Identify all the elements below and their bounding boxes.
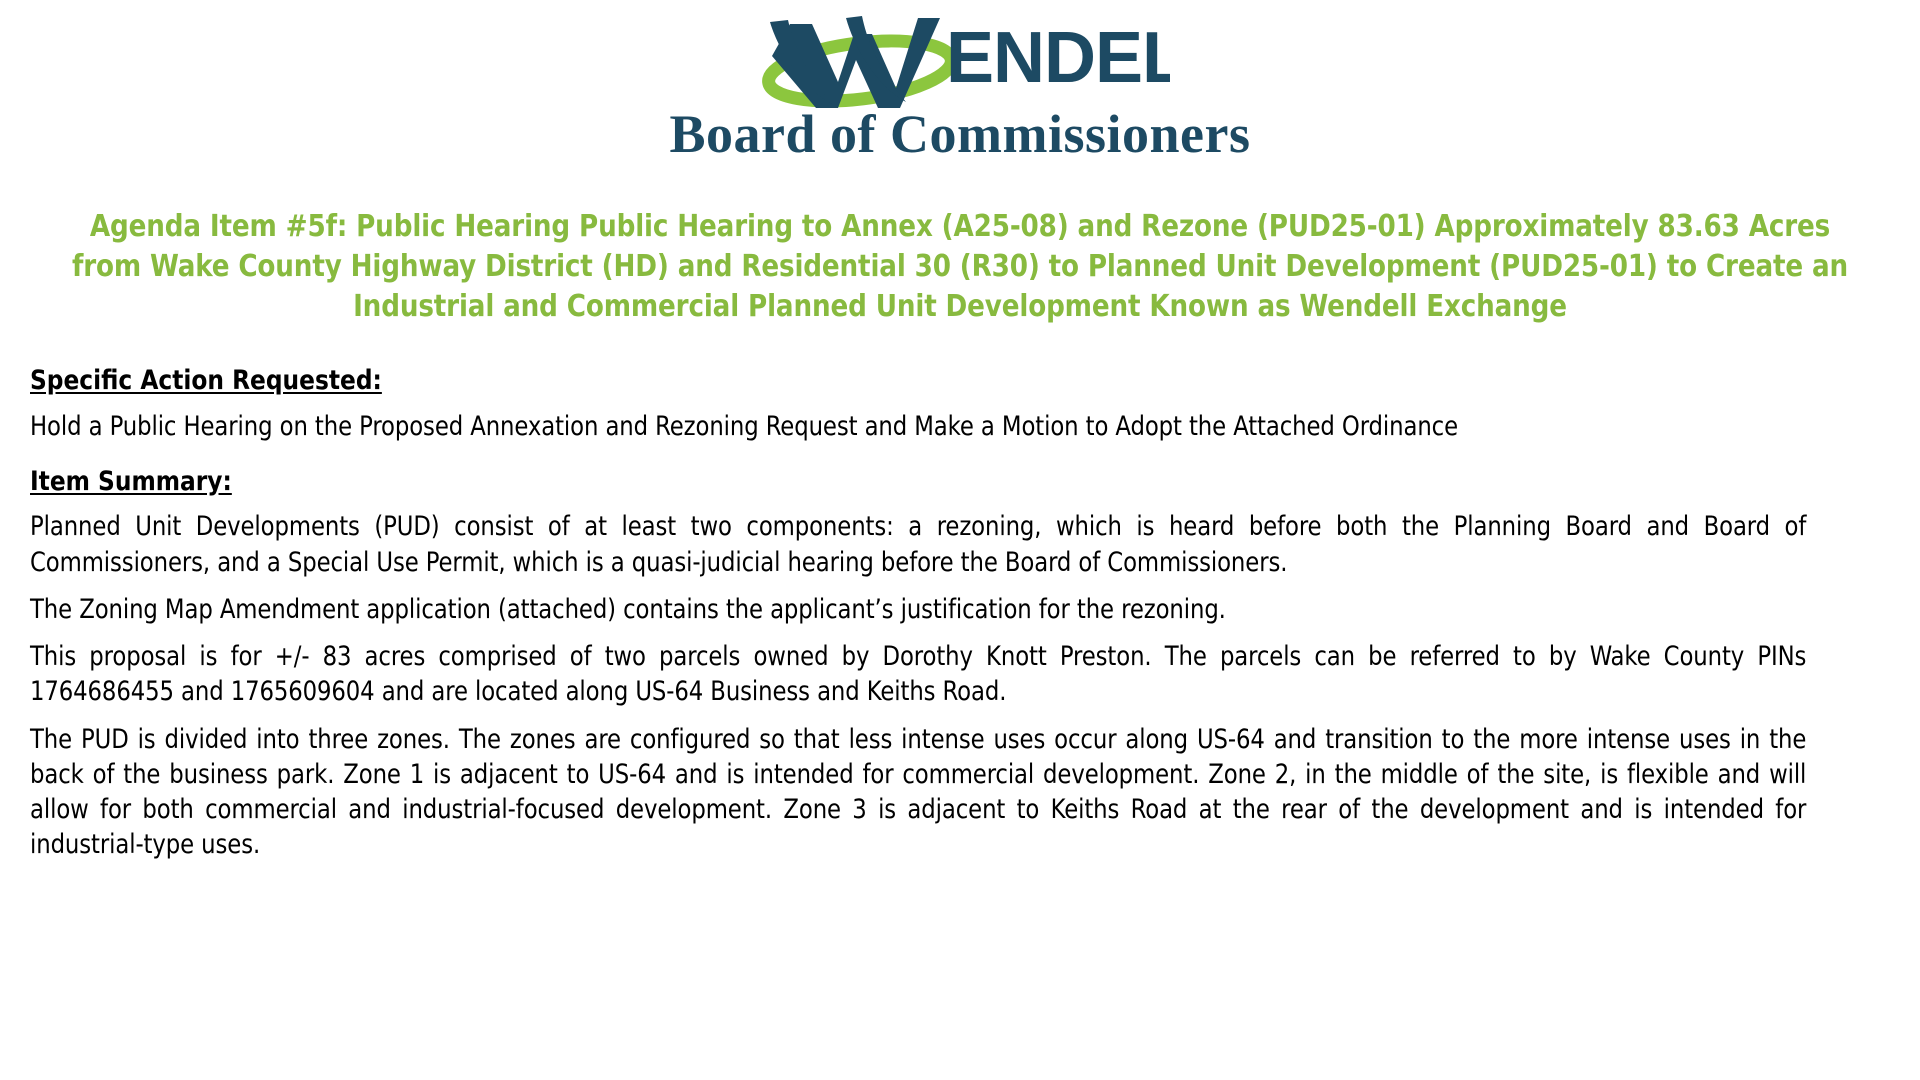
paragraph-pud-components: Planned Unit Developments (PUD) consist …	[30, 509, 1806, 579]
wendell-wordmark: ENDELL	[946, 18, 1170, 98]
paragraph-proposal-parcels: This proposal is for +/- 83 acres compri…	[30, 639, 1806, 709]
paragraph-specific-action: Hold a Public Hearing on the Proposed An…	[30, 409, 1806, 444]
agenda-item-title: Agenda Item #5f: Public Hearing Public H…	[60, 207, 1859, 328]
document-body: Specific Action Requested: Hold a Public…	[30, 365, 1890, 862]
paragraph-zoning-map-amendment: The Zoning Map Amendment application (at…	[30, 592, 1806, 627]
section-heading-item-summary: Item Summary:	[30, 466, 1816, 498]
wendell-logo-icon: ENDELL	[750, 8, 1170, 108]
wendell-logo-mark: ENDELL	[750, 8, 1170, 108]
document-page: ENDELL Board of Commissioners Agenda Ite…	[0, 0, 1920, 1080]
wendell-logo-block: ENDELL Board of Commissioners	[0, 0, 1920, 163]
section-heading-specific-action-requested: Specific Action Requested:	[30, 365, 1816, 397]
board-of-commissioners-subtitle: Board of Commissioners	[670, 106, 1251, 163]
paragraph-pud-zones: The PUD is divided into three zones. The…	[30, 722, 1806, 863]
